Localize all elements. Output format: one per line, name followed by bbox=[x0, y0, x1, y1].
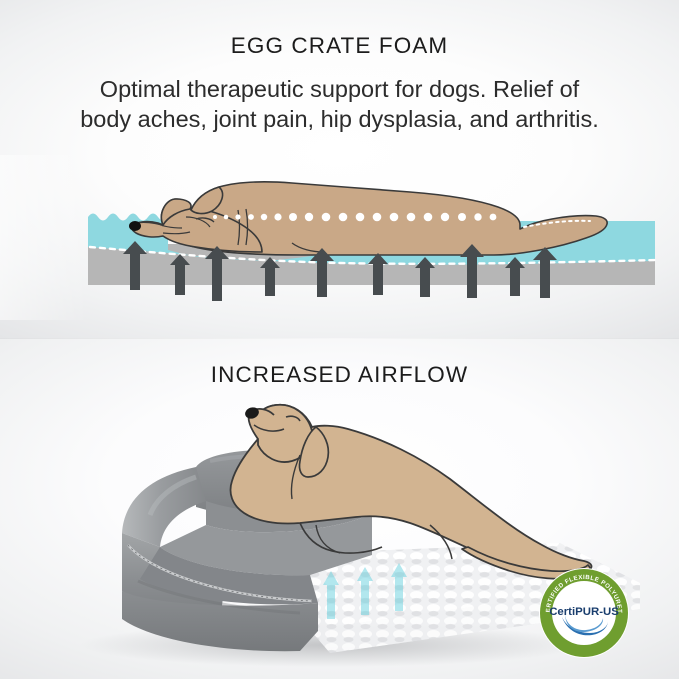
section-title-egg-crate-foam: EGG CRATE FOAM bbox=[0, 33, 679, 59]
badge-brand-text: CertiPUR-US bbox=[549, 606, 619, 618]
subtitle-line-2: body aches, joint pain, hip dysplasia, a… bbox=[22, 104, 657, 134]
illustration-dog-on-foam-cross-section bbox=[0, 155, 679, 320]
certipur-us-badge: CONTAINS CERTIFIED FLEXIBLE POLYURETHANE… bbox=[538, 567, 630, 659]
section-subtitle-egg-crate-foam: Optimal therapeutic support for dogs. Re… bbox=[22, 74, 657, 134]
subtitle-line-1: Optimal therapeutic support for dogs. Re… bbox=[22, 74, 657, 104]
section-title-increased-airflow: INCREASED AIRFLOW bbox=[0, 362, 679, 388]
dog-lying-figure bbox=[129, 182, 607, 255]
section-divider bbox=[0, 338, 679, 339]
section-egg-crate-foam: EGG CRATE FOAM Optimal therapeutic suppo… bbox=[0, 0, 679, 339]
product-infographic: EGG CRATE FOAM Optimal therapeutic suppo… bbox=[0, 0, 679, 679]
dog-nose bbox=[129, 221, 141, 231]
